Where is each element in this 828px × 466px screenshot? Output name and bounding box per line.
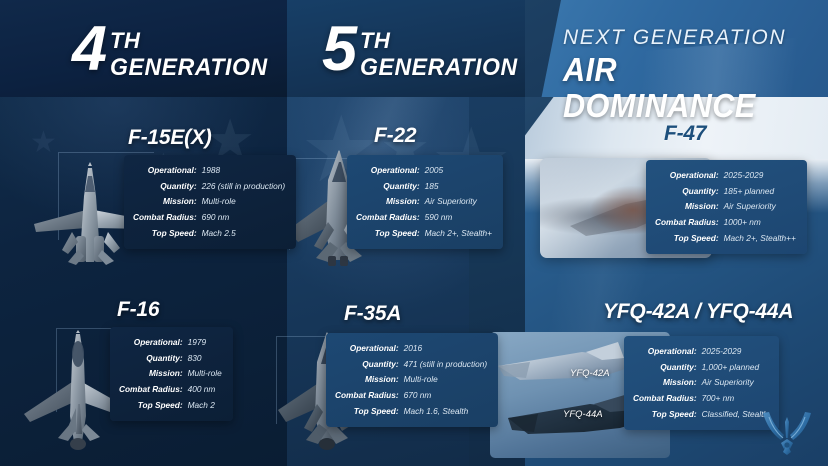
spec-label-mission: Mission: bbox=[655, 200, 719, 214]
aircraft-title-f22: F-22 bbox=[374, 124, 416, 148]
spec-label-combat-radius: Combat Radius: bbox=[119, 383, 183, 397]
spec-label-mission: Mission: bbox=[133, 195, 197, 209]
generation-word: GENERATION bbox=[110, 54, 268, 82]
spec-label-top-speed: Top Speed: bbox=[335, 405, 399, 419]
spec-label-mission: Mission: bbox=[356, 195, 420, 209]
spec-value-mission: Multi-role bbox=[404, 373, 487, 387]
spec-value-top-speed: Mach 1.6, Stealth bbox=[404, 405, 487, 419]
spec-label-combat-radius: Combat Radius: bbox=[335, 389, 399, 403]
spec-label-quantity: Quantity: bbox=[119, 352, 183, 366]
next-gen-title: AIR DOMINANCE bbox=[563, 52, 809, 125]
spec-panel-f22: Operational: 2005 Quantity: 185 Mission:… bbox=[347, 155, 503, 249]
spec-value-quantity: 185 bbox=[425, 180, 492, 194]
header-group-5th-generation: 5 TH GENERATION bbox=[322, 22, 524, 82]
spec-value-quantity: 471 (still in production) bbox=[404, 358, 487, 372]
aircraft-title-f35: F-35A bbox=[344, 302, 401, 326]
spec-value-operational: 2025-2029 bbox=[724, 169, 796, 183]
spec-value-mission: Air Superiority bbox=[702, 376, 768, 390]
spec-label-top-speed: Top Speed: bbox=[133, 227, 197, 241]
spec-label-operational: Operational: bbox=[133, 164, 197, 178]
spec-value-operational: 1979 bbox=[188, 336, 222, 350]
spec-label-top-speed: Top Speed: bbox=[119, 399, 183, 413]
spec-label-operational: Operational: bbox=[655, 169, 719, 183]
infographic-canvas: ★ ★ ★ ★ ★ ★ ★ ★ 4 TH GENERATION 5 TH GEN… bbox=[0, 0, 828, 466]
spec-label-top-speed: Top Speed: bbox=[655, 232, 719, 246]
spec-value-mission: Air Superiority bbox=[724, 200, 796, 214]
spec-value-combat-radius: 400 nm bbox=[188, 383, 222, 397]
spec-panel-f35: Operational: 2016 Quantity: 471 (still i… bbox=[326, 333, 498, 427]
spec-label-combat-radius: Combat Radius: bbox=[356, 211, 420, 225]
spec-value-combat-radius: 690 nm bbox=[202, 211, 285, 225]
usaf-wings-logo-icon bbox=[760, 408, 814, 456]
spec-value-combat-radius: 670 nm bbox=[404, 389, 487, 403]
generation-ordinal: TH bbox=[360, 28, 390, 54]
spec-panel-yfq: Operational: 2025-2029 Quantity: 1,000+ … bbox=[624, 336, 779, 430]
spec-value-mission: Multi-role bbox=[188, 367, 222, 381]
header-group-next-generation: NEXT GENERATION AIR DOMINANCE bbox=[563, 26, 828, 125]
spec-value-operational: 2025-2029 bbox=[702, 345, 768, 359]
spec-value-quantity: 226 (still in production) bbox=[202, 180, 285, 194]
spec-label-mission: Mission: bbox=[119, 367, 183, 381]
spec-value-operational: 1988 bbox=[202, 164, 285, 178]
spec-label-quantity: Quantity: bbox=[133, 180, 197, 194]
generation-word: GENERATION bbox=[360, 54, 518, 82]
aircraft-title-yfq: YFQ-42A / YFQ-44A bbox=[603, 300, 793, 324]
spec-value-top-speed: Classified, Stealth bbox=[702, 408, 768, 422]
photo-label-yfq44a: YFQ-44A bbox=[563, 409, 603, 420]
aircraft-title-f15: F-15E(X) bbox=[128, 126, 212, 150]
generation-number: 4 bbox=[72, 22, 105, 76]
spec-label-operational: Operational: bbox=[119, 336, 183, 350]
spec-label-quantity: Quantity: bbox=[356, 180, 420, 194]
spec-label-top-speed: Top Speed: bbox=[356, 227, 420, 241]
spec-label-combat-radius: Combat Radius: bbox=[633, 392, 697, 406]
spec-label-top-speed: Top Speed: bbox=[633, 408, 697, 422]
generation-number: 5 bbox=[322, 22, 355, 76]
aircraft-title-f47: F-47 bbox=[664, 122, 706, 146]
spec-value-mission: Air Superiority bbox=[425, 195, 492, 209]
spec-value-top-speed: Mach 2 bbox=[188, 399, 222, 413]
spec-label-combat-radius: Combat Radius: bbox=[655, 216, 719, 230]
spec-value-top-speed: Mach 2+, Stealth+ bbox=[425, 227, 492, 241]
spec-value-combat-radius: 590 nm bbox=[425, 211, 492, 225]
spec-label-quantity: Quantity: bbox=[335, 358, 399, 372]
spec-value-combat-radius: 1000+ nm bbox=[724, 216, 796, 230]
photo-label-yfq42a: YFQ-42A bbox=[570, 368, 610, 379]
spec-value-operational: 2016 bbox=[404, 342, 487, 356]
spec-label-mission: Mission: bbox=[633, 376, 697, 390]
spec-panel-f15: Operational: 1988 Quantity: 226 (still i… bbox=[124, 155, 296, 249]
aircraft-title-f16: F-16 bbox=[117, 298, 159, 322]
spec-label-quantity: Quantity: bbox=[633, 361, 697, 375]
spec-value-combat-radius: 700+ nm bbox=[702, 392, 768, 406]
header-group-4th-generation: 4 TH GENERATION bbox=[72, 22, 274, 82]
spec-label-operational: Operational: bbox=[633, 345, 697, 359]
spec-label-combat-radius: Combat Radius: bbox=[133, 211, 197, 225]
spec-value-top-speed: Mach 2+, Stealth++ bbox=[724, 232, 796, 246]
spec-value-quantity: 1,000+ planned bbox=[702, 361, 768, 375]
next-gen-subtitle: NEXT GENERATION bbox=[563, 26, 828, 50]
spec-label-operational: Operational: bbox=[335, 342, 399, 356]
generation-ordinal: TH bbox=[110, 28, 140, 54]
spec-panel-f47: Operational: 2025-2029 Quantity: 185+ pl… bbox=[646, 160, 807, 254]
spec-panel-f16: Operational: 1979 Quantity: 830 Mission:… bbox=[110, 327, 233, 421]
spec-value-top-speed: Mach 2.5 bbox=[202, 227, 285, 241]
spec-value-quantity: 830 bbox=[188, 352, 222, 366]
spec-label-mission: Mission: bbox=[335, 373, 399, 387]
spec-label-quantity: Quantity: bbox=[655, 185, 719, 199]
spec-value-operational: 2005 bbox=[425, 164, 492, 178]
spec-label-operational: Operational: bbox=[356, 164, 420, 178]
spec-value-mission: Multi-role bbox=[202, 195, 285, 209]
spec-value-quantity: 185+ planned bbox=[724, 185, 796, 199]
